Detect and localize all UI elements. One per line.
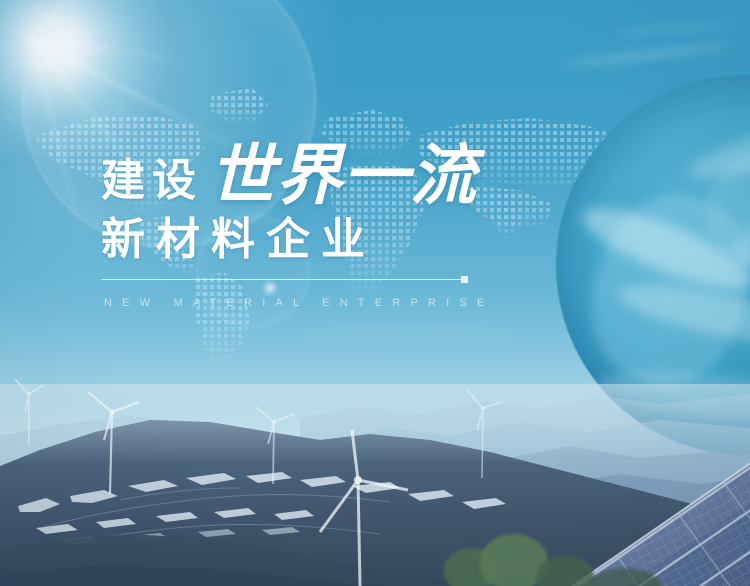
headline-emphasis: 世界一流 [209,142,477,208]
headline-line-1: 建设 世界一流 [101,128,521,208]
headline-block: 建设 世界一流 新材料企业 [101,128,521,266]
headline-prefix: 建设 [101,159,203,208]
hero-banner: 建设 世界一流 新材料企业 NEW MATERIAL ENTERPRISE [0,0,750,586]
divider-line [101,279,461,280]
wind-turbine-large-foreground [312,424,412,586]
headline-line-2: 新材料企业 [101,214,521,266]
divider [101,276,468,284]
solar-panel-array [440,430,750,586]
wind-turbine-far-left [12,374,46,446]
divider-end-cap [461,276,468,283]
wind-turbine-center-right [252,398,296,484]
wind-turbine-left [82,382,142,494]
